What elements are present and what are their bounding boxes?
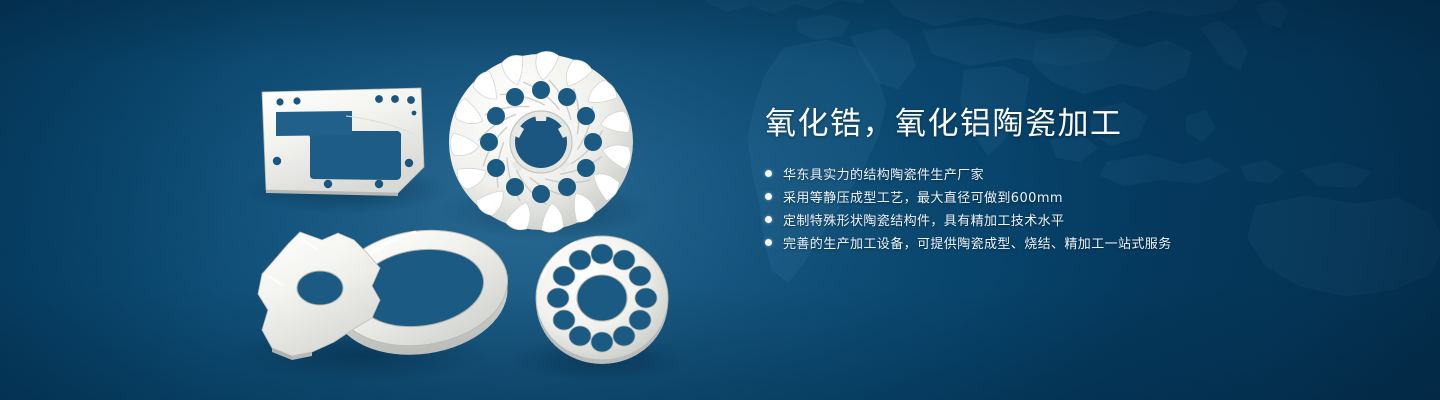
banner-copy: 氧化锆，氧化铝陶瓷加工 华东具实力的结构陶瓷件生产厂家 采用等静压成型工艺，最大… <box>765 104 1405 254</box>
bullet-dot-icon <box>765 170 772 177</box>
ceramic-products-image <box>0 0 760 400</box>
list-item-label: 华东具实力的结构陶瓷件生产厂家 <box>783 164 984 183</box>
list-item-label: 采用等静压成型工艺，最大直径可做到600mm <box>783 187 1063 206</box>
list-item: 采用等静压成型工艺，最大直径可做到600mm <box>765 185 1405 208</box>
list-item-label: 完善的生产加工设备，可提供陶瓷成型、烧结、精加工一站式服务 <box>783 233 1172 252</box>
list-item-label: 定制特殊形状陶瓷结构件，具有精加工技术水平 <box>783 210 1064 229</box>
part-perforated-disc <box>536 236 668 364</box>
feature-list: 华东具实力的结构陶瓷件生产厂家 采用等静压成型工艺，最大直径可做到600mm 定… <box>765 162 1405 254</box>
banner-headline: 氧化锆，氧化铝陶瓷加工 <box>765 104 1405 144</box>
bullet-dot-icon <box>765 216 772 223</box>
bullet-dot-icon <box>765 193 772 200</box>
bullet-dot-icon <box>765 239 772 246</box>
list-item: 完善的生产加工设备，可提供陶瓷成型、烧结、精加工一站式服务 <box>765 231 1405 254</box>
list-item: 华东具实力的结构陶瓷件生产厂家 <box>765 162 1405 185</box>
hero-banner: 氧化锆，氧化铝陶瓷加工 华东具实力的结构陶瓷件生产厂家 采用等静压成型工艺，最大… <box>0 0 1440 400</box>
part-flat-plate <box>262 88 424 196</box>
list-item: 定制特殊形状陶瓷结构件，具有精加工技术水平 <box>765 208 1405 231</box>
